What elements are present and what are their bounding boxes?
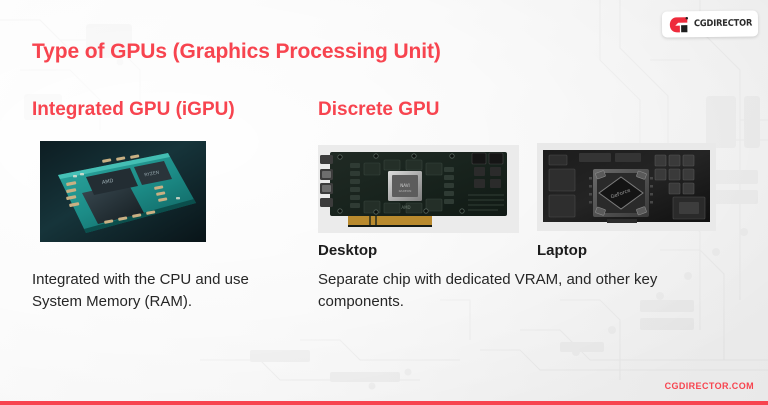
slide-canvas: CGDIRECTOR Type of GPUs (Graphics Proces… [0,0,768,405]
footer-accent-bar [0,401,768,405]
svg-text:AMD: AMD [401,205,410,210]
label-desktop: Desktop [318,242,377,259]
amd-apu-die-photo: AMD RYZEN [40,141,206,242]
footer-url[interactable]: CGDIRECTOR.COM [665,381,754,391]
heading-discrete-gpu: Discrete GPU [318,99,439,121]
desktop-gpu-pcb: NAVI RADEON [318,145,519,233]
svg-text:RADEON: RADEON [399,189,412,193]
cgdirector-logo[interactable]: CGDIRECTOR [662,10,758,37]
cgdirector-logo-icon [669,16,689,33]
laptop-gpu-board: GeForce [537,143,716,231]
description-integrated-gpu: Integrated with the CPU and use System M… [32,269,302,313]
svg-text:NAVI: NAVI [400,183,409,188]
page-title: Type of GPUs (Graphics Processing Unit) [32,40,441,64]
heading-integrated-gpu: Integrated GPU (iGPU) [32,99,235,121]
cgdirector-logo-text: CGDIRECTOR [694,19,752,30]
label-laptop: Laptop [537,242,587,259]
description-discrete-gpu: Separate chip with dedicated VRAM, and o… [318,269,708,313]
